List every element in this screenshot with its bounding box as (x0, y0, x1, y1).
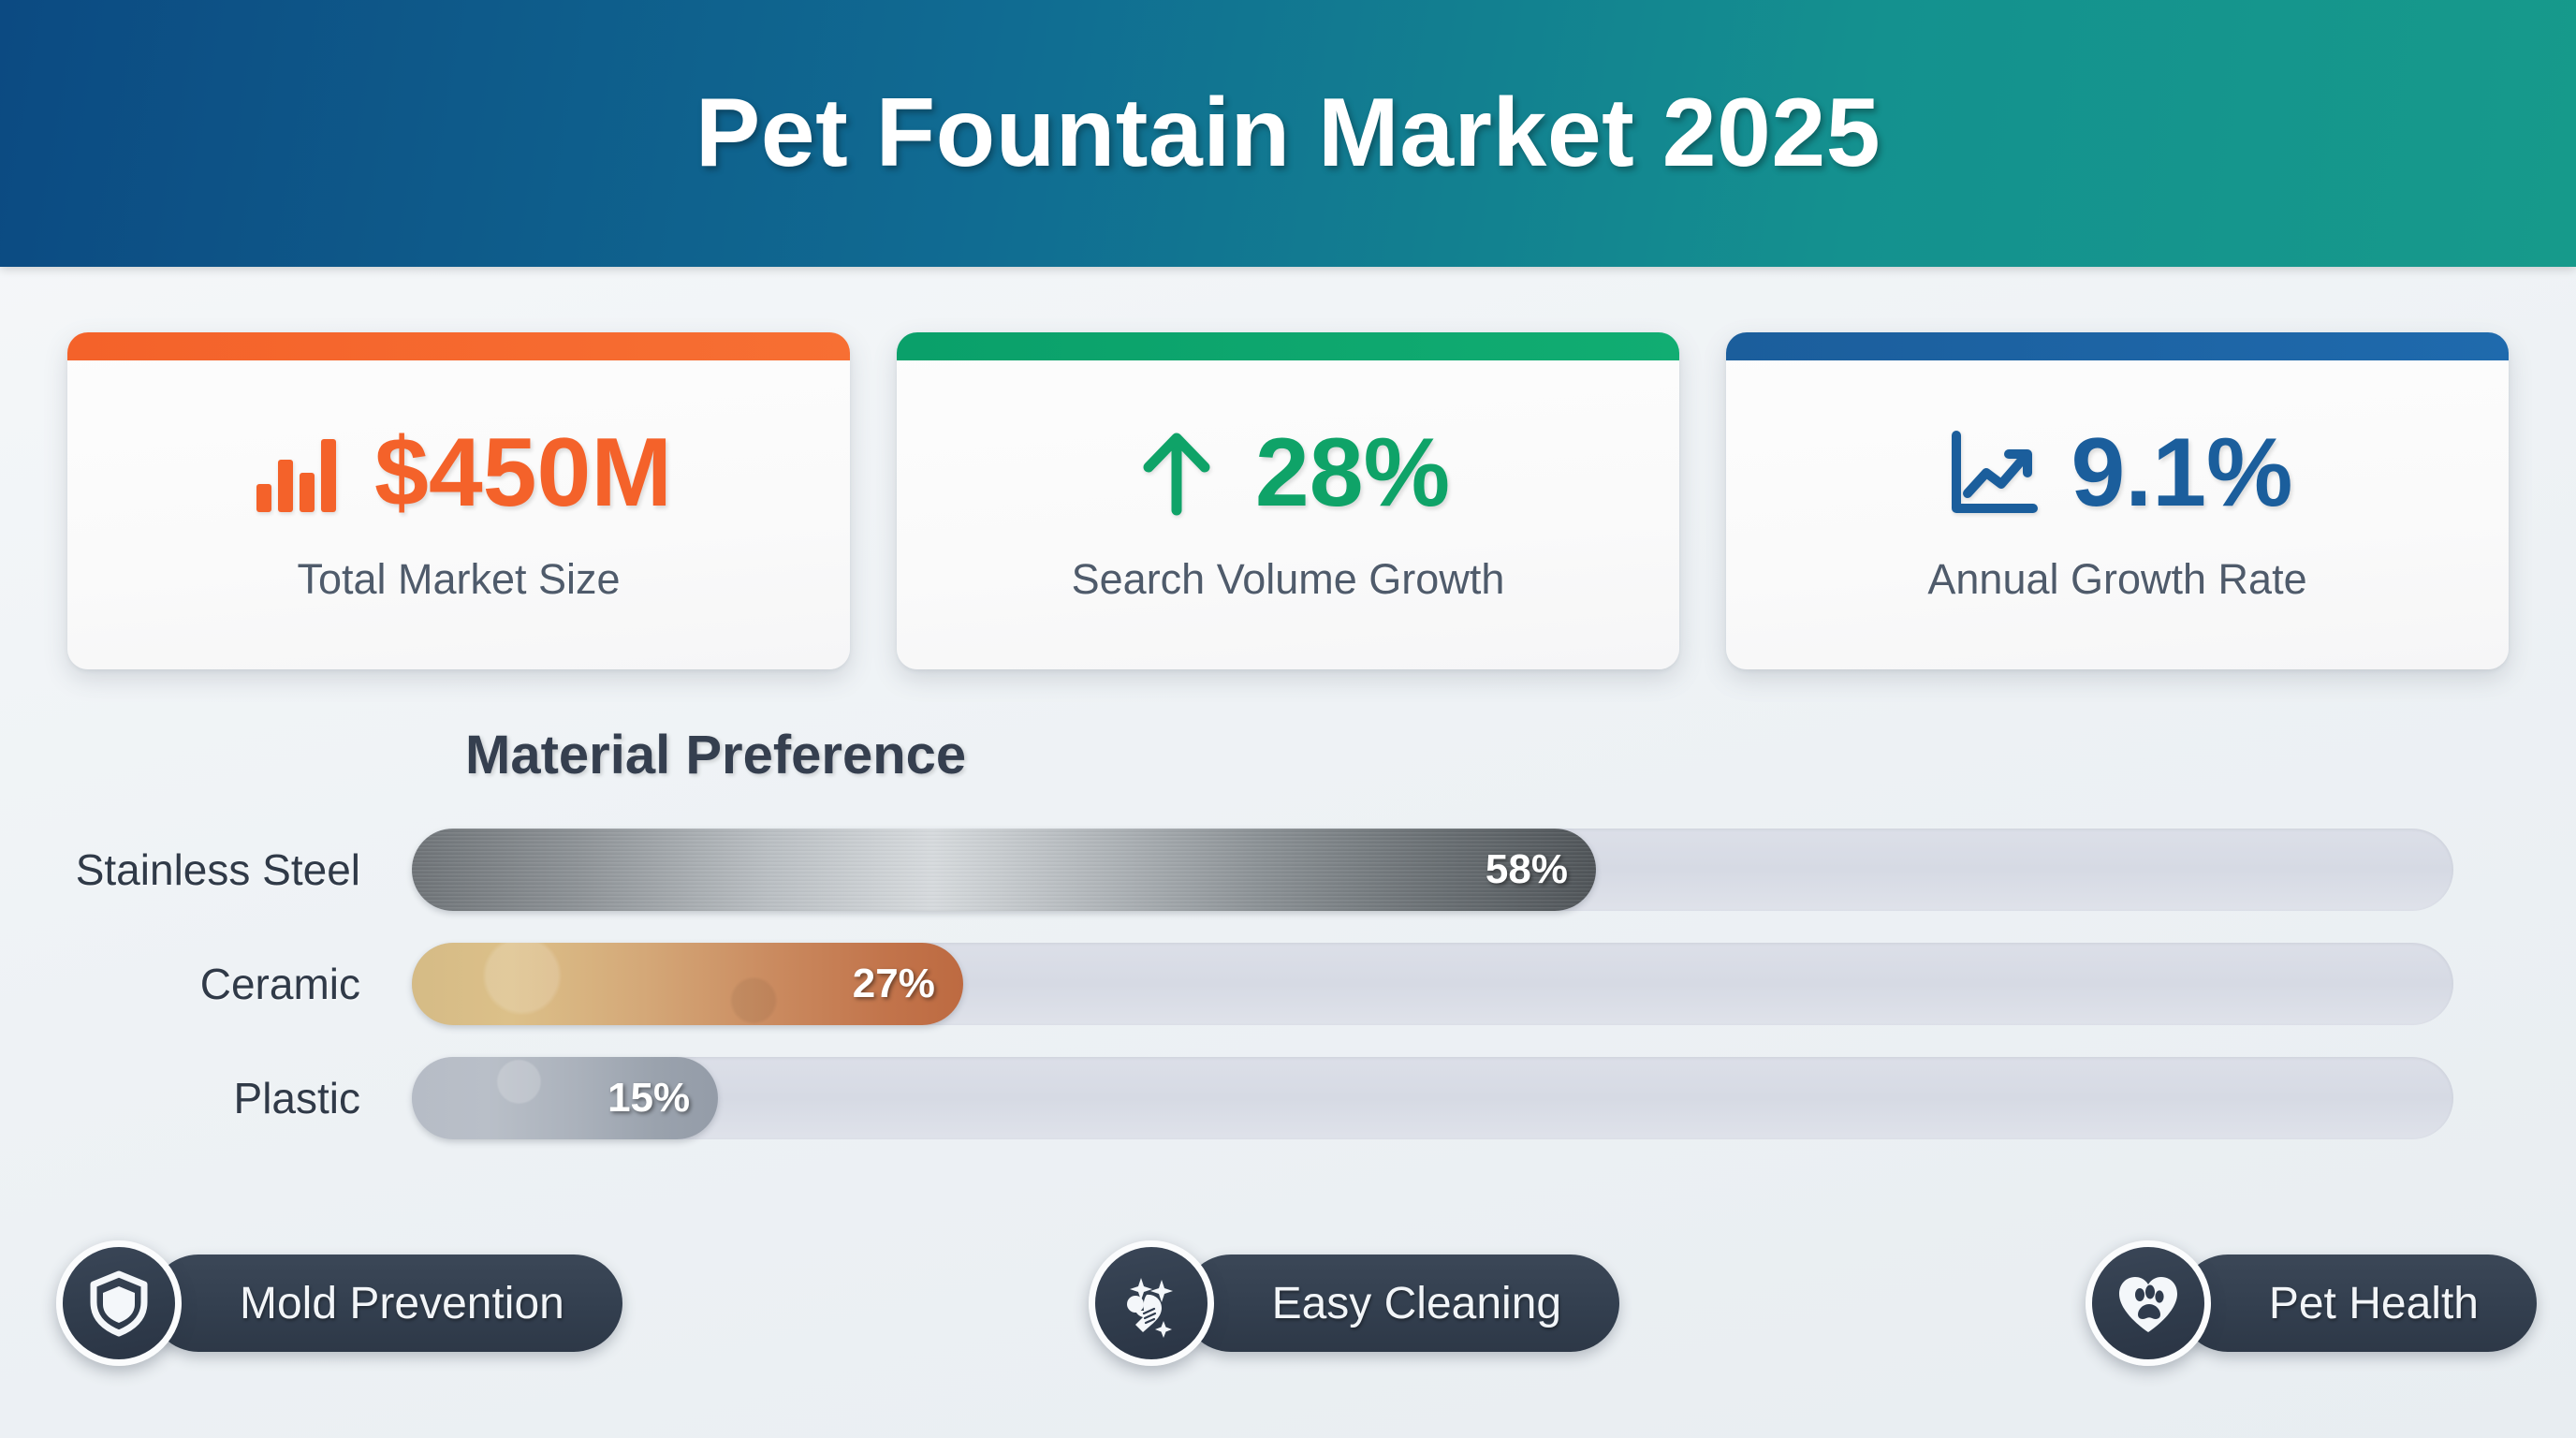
bar-fill: 58% (412, 829, 1596, 911)
feature-label: Pet Health (2269, 1278, 2479, 1329)
stat-value-row: $450M (245, 422, 672, 523)
stat-value: 9.1% (2071, 424, 2292, 521)
feature-pill[interactable]: Mold Prevention (150, 1255, 622, 1352)
bar-row: Stainless Steel 58% (0, 828, 2576, 912)
bar-fill: 15% (412, 1057, 718, 1139)
stat-card-search-volume-growth[interactable]: 28% Search Volume Growth (897, 332, 1679, 669)
stat-card-body: 9.1% Annual Growth Rate (1726, 360, 2509, 669)
stat-card-total-market-size[interactable]: $450M Total Market Size (67, 332, 850, 669)
stat-card-annual-growth-rate[interactable]: 9.1% Annual Growth Rate (1726, 332, 2509, 669)
feature-pills-row: Mold Prevention (56, 1210, 2537, 1397)
material-preference-title: Material Preference (465, 724, 966, 786)
feature-label: Mold Prevention (240, 1278, 564, 1329)
feature-mold-prevention[interactable]: Mold Prevention (56, 1210, 622, 1397)
feature-pill[interactable]: Pet Health (2179, 1255, 2537, 1352)
bar-value: 27% (853, 961, 963, 1007)
page-header: Pet Fountain Market 2025 (0, 0, 2576, 267)
card-accent-bar (67, 332, 850, 360)
stat-label: Search Volume Growth (1072, 555, 1505, 604)
bar-label: Plastic (0, 1073, 412, 1123)
feature-easy-cleaning[interactable]: Easy Cleaning (1089, 1210, 1620, 1397)
card-accent-bar (1726, 332, 2509, 360)
arrow-up-icon (1126, 422, 1227, 523)
bar-value: 15% (607, 1075, 718, 1122)
bar-row: Plastic 15% (0, 1056, 2576, 1140)
bar-row: Ceramic 27% (0, 942, 2576, 1026)
shield-icon (56, 1240, 182, 1366)
stat-label: Total Market Size (297, 555, 620, 604)
stat-cards-row: $450M Total Market Size (67, 332, 2509, 669)
line-chart-up-icon (1941, 422, 2042, 523)
hands-washing-sparkle-icon (1089, 1240, 1214, 1366)
bar-label: Stainless Steel (0, 844, 412, 895)
stat-value-row: 9.1% (1941, 422, 2292, 523)
bar-track: 58% (412, 829, 2453, 911)
bar-fill: 27% (412, 943, 963, 1025)
material-preference-chart: Stainless Steel 58% Ceramic 27% Plastic … (0, 828, 2576, 1170)
feature-label: Easy Cleaning (1272, 1278, 1562, 1329)
heart-paw-icon (2086, 1240, 2211, 1366)
stat-value: $450M (374, 424, 672, 521)
stat-card-body: 28% Search Volume Growth (897, 360, 1679, 669)
stat-value-row: 28% (1126, 422, 1450, 523)
bar-chart-icon (245, 422, 346, 523)
infographic-root: Pet Fountain Market 2025 $450M (0, 0, 2576, 1438)
bar-track: 27% (412, 943, 2453, 1025)
stat-value: 28% (1255, 424, 1450, 521)
card-accent-bar (897, 332, 1679, 360)
stat-label: Annual Growth Rate (1927, 555, 2306, 604)
bar-label: Ceramic (0, 959, 412, 1009)
page-title: Pet Fountain Market 2025 (695, 78, 1881, 189)
stat-card-body: $450M Total Market Size (67, 360, 850, 669)
feature-pet-health[interactable]: Pet Health (2086, 1210, 2537, 1397)
bar-track: 15% (412, 1057, 2453, 1139)
feature-pill[interactable]: Easy Cleaning (1182, 1255, 1620, 1352)
bar-value: 58% (1486, 846, 1596, 893)
